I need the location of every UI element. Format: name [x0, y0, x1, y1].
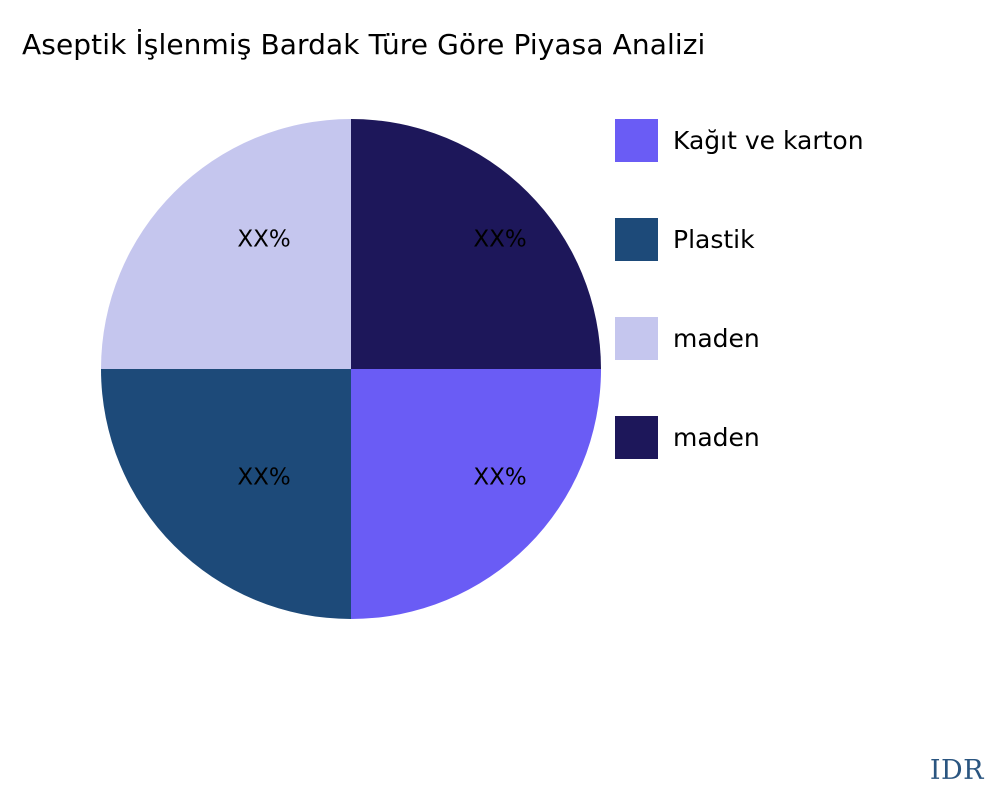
pie-slice-label: XX%	[237, 465, 290, 491]
legend-item[interactable]: Plastik	[615, 218, 975, 261]
legend-swatch-icon	[615, 416, 658, 459]
legend-swatch-icon	[615, 317, 658, 360]
legend-item[interactable]: maden	[615, 416, 975, 459]
pie-chart-figure: Aseptik İşlenmiş Bardak Türe Göre Piyasa…	[0, 0, 1000, 800]
legend-item-label: Plastik	[673, 218, 755, 261]
pie-slice-label: XX%	[473, 465, 526, 491]
pie-slice-label: XX%	[237, 227, 290, 253]
legend-swatch-icon	[615, 218, 658, 261]
legend-item-label: maden	[673, 317, 760, 360]
pie-slice[interactable]	[101, 369, 351, 619]
pie-slice-group	[101, 119, 601, 619]
pie-slice[interactable]	[351, 369, 601, 619]
legend-item-label: Kağıt ve karton	[673, 119, 864, 162]
legend-swatch-icon	[615, 119, 658, 162]
pie-slice-label: XX%	[473, 227, 526, 253]
legend: Kağıt ve kartonPlastikmadenmaden	[615, 119, 975, 459]
legend-item[interactable]: Kağıt ve karton	[615, 119, 975, 162]
watermark-idr: IDR	[930, 755, 984, 786]
legend-item[interactable]: maden	[615, 317, 975, 360]
pie-slice[interactable]	[101, 119, 351, 369]
legend-item-label: maden	[673, 416, 760, 459]
